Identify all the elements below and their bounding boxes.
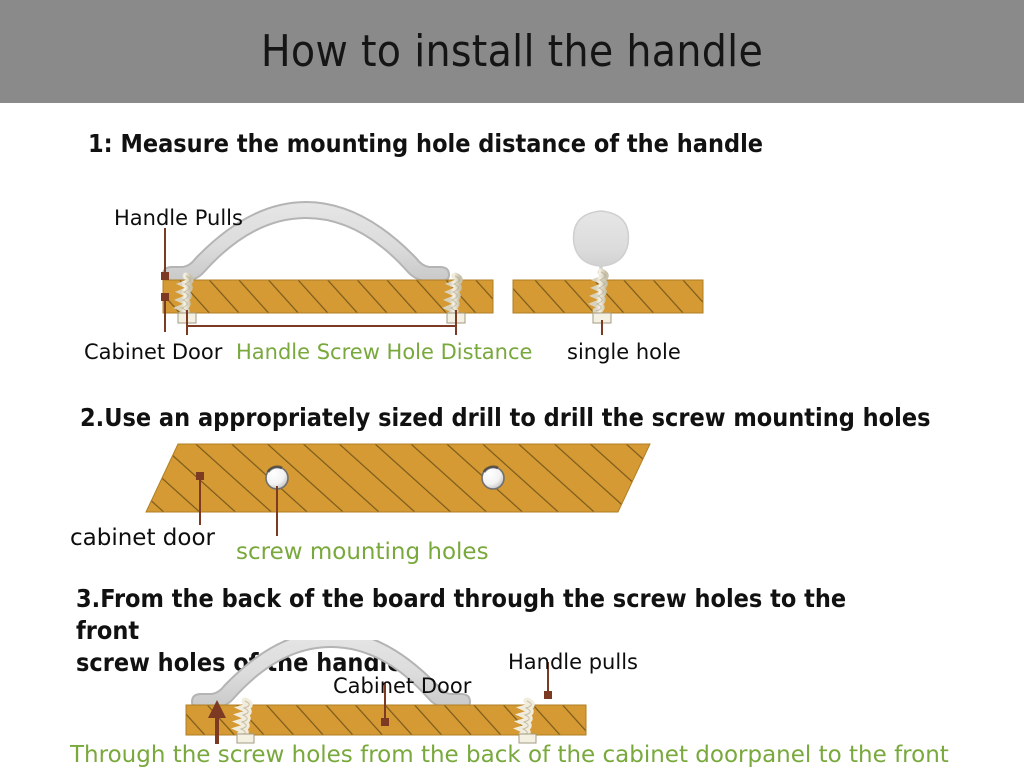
screw-left-1 [178, 276, 196, 323]
screw-mounting-hole-2 [482, 467, 504, 489]
screw-left-2 [447, 276, 465, 323]
pointer-cabinet-door-2 [196, 472, 204, 525]
pointer-handle-pulls [161, 228, 169, 280]
knob-pull-icon [574, 211, 629, 280]
step-1-heading: 1: Measure the mounting hole distance of… [88, 128, 763, 160]
cabinet-door-label-3: Cabinet Door [333, 674, 471, 698]
screw-step3-left [237, 701, 254, 743]
handle-pulls-label-3: Handle pulls [508, 650, 638, 674]
header-banner: How to install the handle [0, 0, 1024, 103]
cabinet-door-board-right [513, 280, 703, 313]
cabinet-door-label-2: cabinet door [70, 525, 215, 551]
arrow-through-back-of-board [208, 700, 226, 744]
cabinet-door-board-left [163, 280, 493, 313]
screw-mounting-holes-label: screw mounting holes [236, 539, 489, 565]
screw-step3-right [519, 701, 536, 743]
step-2-heading: 2.Use an appropriately sized drill to dr… [80, 402, 930, 434]
pointer-cabinet-door [161, 293, 169, 332]
cabinet-door-label: Cabinet Door [84, 340, 222, 364]
screw-mounting-hole-1 [266, 467, 288, 489]
single-hole-label: single hole [567, 340, 681, 364]
cabinet-door-board-step3 [186, 705, 586, 735]
handle-screw-hole-distance-label: Handle Screw Hole Distance [236, 340, 532, 364]
screw-right-single [593, 272, 611, 323]
cabinet-door-board-perspective [146, 444, 650, 512]
step-2-diagram [0, 430, 1024, 540]
step-3-heading: 3.From the back of the board through the… [76, 583, 906, 679]
dimension-line-screw-distance [187, 310, 456, 335]
footer-note: Through the screw holes from the back of… [70, 742, 949, 768]
page-title: How to install the handle [261, 26, 763, 77]
handle-pulls-label: Handle Pulls [114, 206, 243, 230]
